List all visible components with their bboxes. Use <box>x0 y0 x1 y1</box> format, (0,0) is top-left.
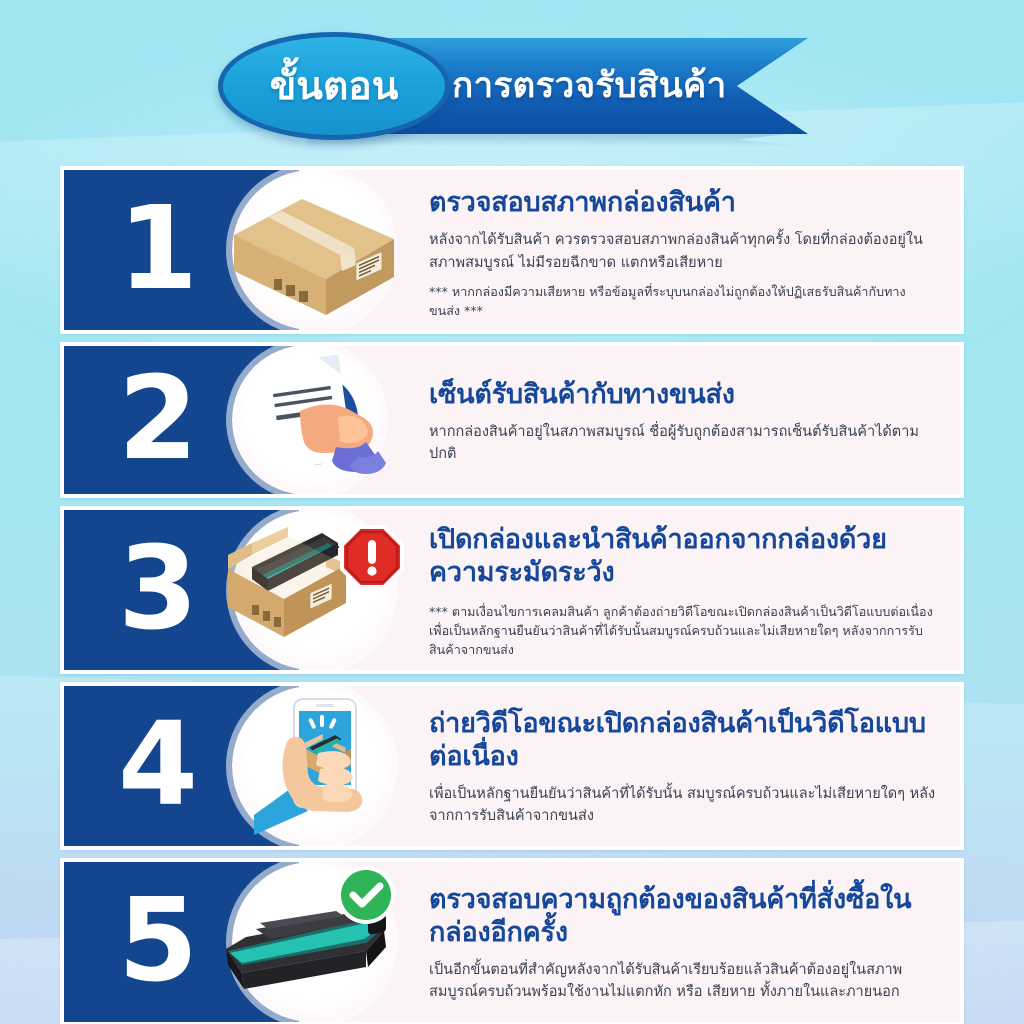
step-description-5: เป็นอีกขั้นตอนที่สำคัญหลังจากได้รับสินค้… <box>429 959 936 1004</box>
step-number-2: 2 <box>118 368 196 472</box>
step-description-4: เพื่อเป็นหลักฐานยืนยันว่าสินค้าที่ได้รับ… <box>429 783 936 828</box>
step-title-1: ตรวจสอบสภาพกล่องสินค้า <box>429 187 936 220</box>
step-note-3: *** ตามเงื่อนไขการเคลมสินค้า ลูกค้าต้องถ… <box>429 603 936 660</box>
step-illustration-spotlight-4 <box>232 686 392 846</box>
step-note-1: *** หากกล่องมีความเสียหาย หรือข้อมูลที่ร… <box>429 283 936 321</box>
step-number-1: 1 <box>118 198 196 302</box>
step-illustration-spotlight-1 <box>232 170 392 330</box>
header-badge-label: ขั้นตอน <box>270 67 399 106</box>
step-card-1[interactable]: 1 <box>60 166 964 334</box>
step-number-4: 4 <box>118 714 196 818</box>
step-body-5: ตรวจสอบความถูกต้องของสินค้าที่สั่งซื้อใน… <box>299 862 960 1022</box>
step-number-3: 3 <box>118 538 196 642</box>
step-title-3: เปิดกล่องและนำสินค้าออกจากกล่องด้วยความร… <box>429 524 936 590</box>
step-title-4: ถ่ายวิดีโอขณะเปิดกล่องสินค้าเป็นวิดีโอแบ… <box>429 708 936 774</box>
step-illustration-spotlight-2 <box>232 345 382 495</box>
step-card-4[interactable]: 4 <box>60 682 964 850</box>
step-description-2: หากกล่องสินค้าอยู่ในสภาพสมบูรณ์ ชื่อผู้ร… <box>429 421 936 466</box>
step-body-4: ถ่ายวิดีโอขณะเปิดกล่องสินค้าเป็นวิดีโอแบ… <box>299 686 960 846</box>
step-body-1: ตรวจสอบสภาพกล่องสินค้า หลังจากได้รับสินค… <box>299 170 960 330</box>
header-badge: ขั้นตอน <box>218 32 450 140</box>
step-card-2[interactable]: 2 <box>60 342 964 498</box>
page-header: การตรวจรับสินค้า ขั้นตอน <box>0 32 1024 142</box>
step-body-2: เซ็นต์รับสินค้ากับทางขนส่ง หากกล่องสินค้… <box>299 346 960 494</box>
step-card-5[interactable]: 5 <box>60 858 964 1024</box>
step-card-3[interactable]: 3 <box>60 506 964 674</box>
step-number-5: 5 <box>118 890 196 994</box>
step-body-3: เปิดกล่องและนำสินค้าออกจากกล่องด้วยความร… <box>299 510 960 670</box>
step-description-1: หลังจากได้รับสินค้า ควรตรวจสอบสภาพกล่องส… <box>429 229 936 274</box>
steps-list: 1 <box>60 166 964 1024</box>
step-illustration-spotlight-3 <box>232 510 392 670</box>
page-title: การตรวจรับสินค้า <box>452 69 727 104</box>
step-title-5: ตรวจสอบความถูกต้องของสินค้าที่สั่งซื้อใน… <box>429 884 936 950</box>
step-illustration-spotlight-5 <box>232 862 392 1022</box>
step-title-2: เซ็นต์รับสินค้ากับทางขนส่ง <box>429 379 936 412</box>
